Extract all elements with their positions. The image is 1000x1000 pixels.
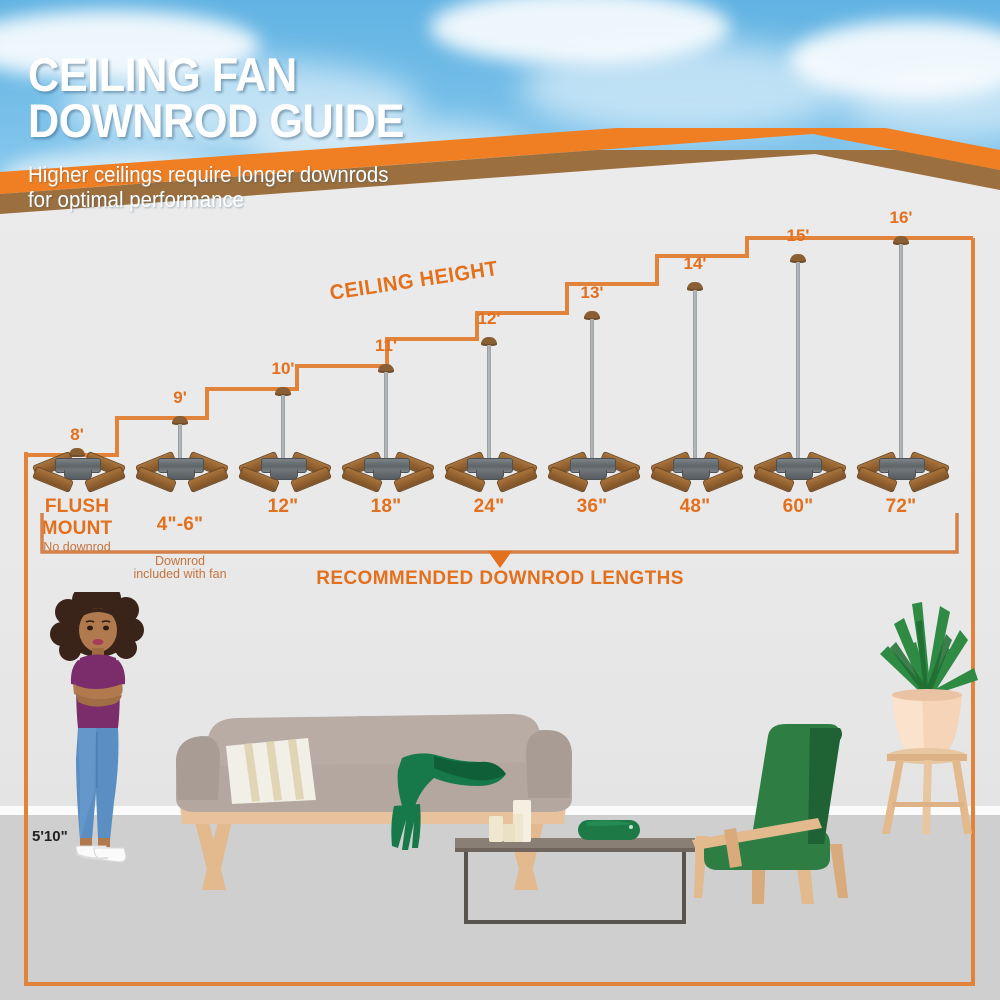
downrod-label-12ft: 24": [432, 496, 546, 518]
page-subtitle: Higher ceilings require longer downrods …: [28, 162, 389, 212]
fan-downrod: [281, 395, 285, 458]
ceiling-height-label-13: 13': [562, 283, 622, 303]
ceiling-height-label-10: 10': [253, 359, 313, 379]
downrod-value: 12": [226, 496, 340, 518]
candles-illustration: [487, 800, 543, 842]
downrod-value: 18": [329, 496, 443, 518]
ceiling-height-label-9: 9': [150, 388, 210, 408]
downrod-label-16ft: 72": [844, 496, 958, 518]
person-height-label: 5'10": [32, 828, 68, 845]
downrod-value: 72": [844, 496, 958, 518]
fan-downrod: [899, 244, 903, 458]
plant-stand-illustration: [872, 596, 982, 836]
page-title: CEILING FAN DOWNROD GUIDE: [28, 52, 404, 144]
downrod-note: No downrod: [20, 541, 134, 554]
downrod-value: 36": [535, 496, 649, 518]
person-illustration: [40, 592, 160, 892]
downrod-label-10ft: 12": [226, 496, 340, 518]
downrod-value: FLUSH MOUNT: [20, 496, 134, 540]
fan-downrod: [796, 262, 800, 458]
fan-downrod: [590, 319, 594, 458]
ceiling-height-label-16: 16': [871, 208, 931, 228]
armchair-illustration: [690, 718, 880, 908]
downrod-label-11ft: 18": [329, 496, 443, 518]
frame-border-bottom: [24, 982, 975, 986]
infographic-canvas: CEILING FAN DOWNROD GUIDE Higher ceiling…: [0, 0, 1000, 1000]
downrod-value: 4"-6": [123, 514, 237, 536]
downrod-value: 48": [638, 496, 752, 518]
recommended-lengths-caption: RECOMMENDED DOWNROD LENGTHS: [0, 568, 1000, 590]
ceiling-height-label-11: 11': [356, 336, 416, 356]
ceiling-height-label-8: 8': [47, 425, 107, 445]
downrod-value: 60": [741, 496, 855, 518]
downrod-label-14ft: 48": [638, 496, 752, 518]
ceiling-height-label-15: 15': [768, 226, 828, 246]
downrod-label-15ft: 60": [741, 496, 855, 518]
frame-border-left: [24, 452, 28, 986]
ceiling-height-label-12: 12': [459, 309, 519, 329]
downrod-label-8ft: FLUSH MOUNT No downrod: [20, 496, 134, 554]
coffee-table-illustration: [455, 838, 695, 930]
ceiling-height-label-14: 14': [665, 254, 725, 274]
fan-downrod: [178, 424, 182, 458]
fan-downrod: [693, 290, 697, 458]
fan-downrod: [487, 345, 491, 458]
fan-downrod: [384, 372, 388, 458]
green-book-illustration: [578, 818, 640, 842]
downrod-value: 24": [432, 496, 546, 518]
downrod-label-13ft: 36": [535, 496, 649, 518]
